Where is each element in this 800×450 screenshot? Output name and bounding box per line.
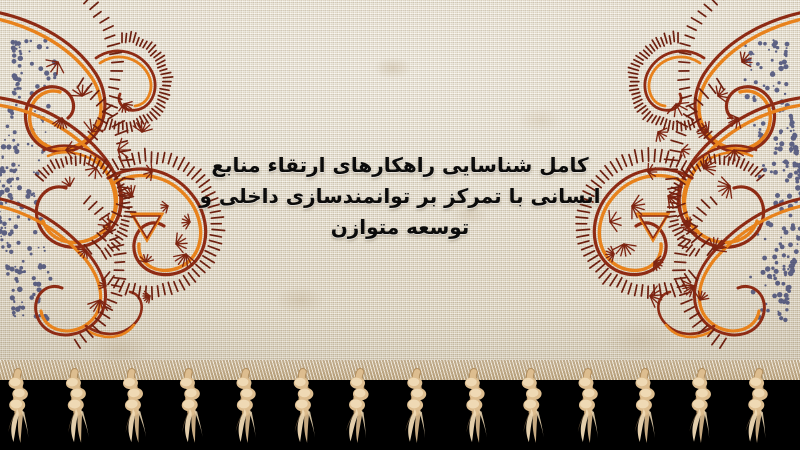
slide-title: کامل شناسایی راهکارهای ارتقاء منابع انسا… <box>0 150 800 243</box>
title-line-2: انسانی با تمرکز بر توانمندسازی داخلی و <box>150 181 650 212</box>
tassel <box>343 372 377 446</box>
tassel-fringe-band <box>0 360 800 450</box>
tassel <box>229 372 263 446</box>
tassel <box>628 372 662 446</box>
tassel <box>58 372 92 446</box>
slide-canvas: کامل شناسایی راهکارهای ارتقاء منابع انسا… <box>0 0 800 450</box>
tassel <box>742 372 776 446</box>
tassel <box>1 372 35 446</box>
tassel <box>457 372 491 446</box>
title-line-3: توسعه متوازن <box>150 212 650 243</box>
tassel <box>400 372 434 446</box>
tassel <box>571 372 605 446</box>
tassel <box>115 372 149 446</box>
tassel <box>172 372 206 446</box>
tassel <box>514 372 548 446</box>
title-line-1: کامل شناسایی راهکارهای ارتقاء منابع <box>150 150 650 181</box>
tassel <box>286 372 320 446</box>
tassel <box>685 372 719 446</box>
